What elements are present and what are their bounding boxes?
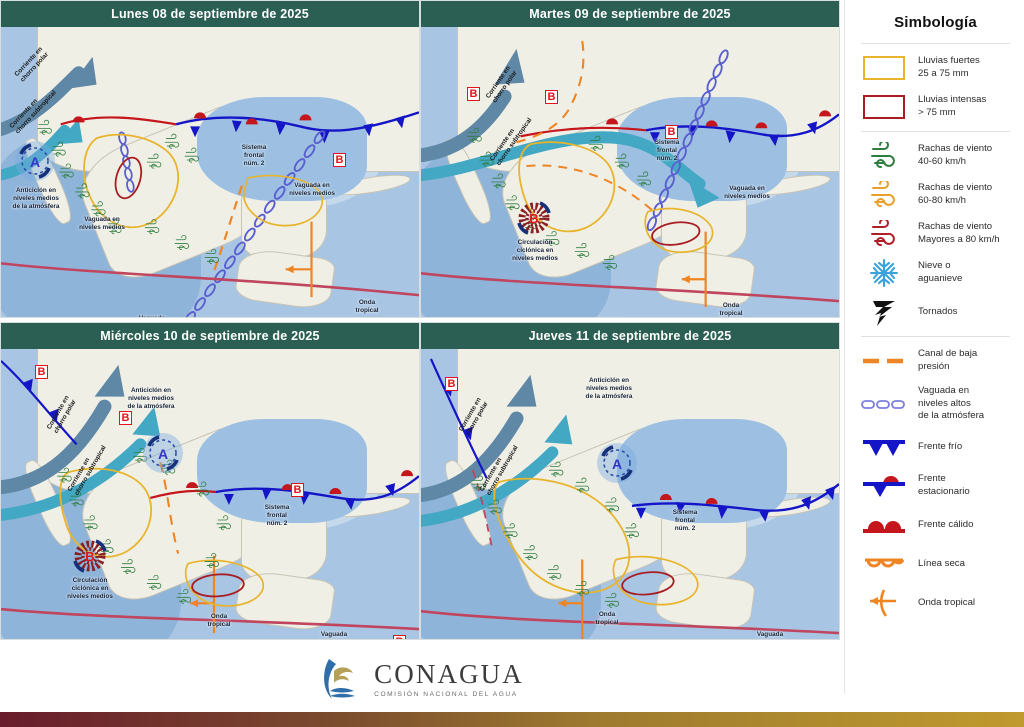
svg-text:A: A: [158, 446, 168, 462]
wind-gusts-lunes: [1, 27, 419, 317]
label-monsoon-trough-jueves: Vaguada monzónica: [743, 631, 797, 639]
label-tropical-wave-jueves: Onda tropical: [585, 611, 629, 627]
conagua-subtitle: COMISIÓN NACIONAL DEL AGUA: [374, 691, 524, 698]
wind-gusts-martes: [421, 27, 839, 317]
anticyclone-marker-miercoles: A: [143, 433, 183, 473]
legend-label: Rachas de viento Mayores a 80 km/h: [918, 221, 1000, 246]
low-pressure-marker-jueves-1: B: [445, 377, 458, 391]
wind-orange-icon: [859, 180, 909, 210]
label-anticyclone-miercoles: Anticiclón en niveles medios de la atmós…: [111, 387, 191, 410]
legend-item-cold-front[interactable]: Frente frío: [859, 432, 1014, 462]
panel-martes[interactable]: Martes 09 de septiembre de 2025: [420, 0, 840, 318]
conagua-eagle-icon: [320, 655, 366, 703]
low-pressure-marker-martes-2: B: [545, 90, 558, 104]
legend-divider-1: [861, 43, 1010, 44]
panel-lunes[interactable]: Lunes 08 de septiembre de 2025: [0, 0, 420, 318]
legend-label: Onda tropical: [918, 597, 975, 610]
svg-text:A: A: [612, 456, 622, 472]
cold-front-icon: [859, 432, 909, 462]
legend-item-tropical-wave[interactable]: Onda tropical: [859, 588, 1014, 618]
low-pressure-marker-miercoles-2: B: [119, 411, 132, 425]
footer: CONAGUA COMISIÓN NACIONAL DEL AGUA: [0, 645, 844, 712]
legend-label: Lluvias fuertes 25 a 75 mm: [918, 55, 980, 80]
cyclonic-circulation-miercoles: B: [71, 537, 109, 575]
warm-front-icon: [859, 510, 909, 540]
legend-item-rain-intense[interactable]: Lluvias intensas > 75 mm: [859, 92, 1014, 122]
stationary-front-icon: [859, 471, 909, 501]
legend-item-wind-green[interactable]: Rachas de viento 40-60 km/h: [859, 141, 1014, 171]
legend-item-low-pressure-channel[interactable]: Canal de baja presión: [859, 346, 1014, 376]
legend-label: Vaguada en niveles altos de la atmósfera: [918, 385, 984, 423]
legend-label: Frente estacionario: [918, 473, 970, 498]
label-cyclonic-circulation-miercoles: Circulación ciclónica en niveles medios: [61, 577, 119, 600]
panel-title-miercoles: Miércoles 10 de septiembre de 2025: [1, 323, 419, 349]
low-pressure-marker-martes-1: B: [467, 87, 480, 101]
label-trough-gulf-lunes: Vaguada en niveles medios: [279, 182, 345, 198]
panel-title-martes: Martes 09 de septiembre de 2025: [421, 1, 839, 27]
map-jueves[interactable]: A Corriente en chorro polar Corriente en…: [421, 349, 839, 639]
map-martes[interactable]: B Corriente en chorro polar Corriente en…: [421, 27, 839, 317]
legend-label: Frente cálido: [918, 519, 973, 532]
wind-green-icon: [859, 141, 909, 171]
conagua-wordmark: CONAGUA COMISIÓN NACIONAL DEL AGUA: [374, 659, 524, 698]
legend-item-snow[interactable]: Nieve o aguanieve: [859, 258, 1014, 288]
legend-item-rain-heavy[interactable]: Lluvias fuertes 25 a 75 mm: [859, 53, 1014, 83]
tornado-icon: [859, 297, 909, 327]
legend-label: Tornados: [918, 306, 957, 319]
legend-label: Frente frío: [918, 441, 962, 454]
label-tropical-wave-martes: Onda tropical: [709, 302, 753, 317]
wind-red-icon: [859, 219, 909, 249]
panel-miercoles[interactable]: Miércoles 10 de septiembre de 2025: [0, 322, 420, 640]
label-trough-pacific-lunes: Vaguada en niveles medios: [71, 216, 133, 232]
upper-trough-icon: [859, 389, 909, 419]
label-trough-gulf-martes: Vaguada en niveles medios: [717, 185, 777, 201]
legend-item-stationary-front[interactable]: Frente estacionario: [859, 471, 1014, 501]
legend-divider-3: [861, 336, 1010, 337]
svg-text:A: A: [30, 154, 40, 170]
legend-divider-2: [861, 131, 1010, 132]
legend-label: Rachas de viento 40-60 km/h: [918, 143, 992, 168]
anticyclone-marker-lunes: A: [15, 141, 55, 181]
legend-label: Línea seca: [918, 558, 965, 571]
tropical-wave-icon: [859, 588, 909, 618]
weather-forecast-page: Lunes 08 de septiembre de 2025: [0, 0, 1024, 727]
label-frontal-system-lunes: Sistema frontal núm. 2: [229, 144, 279, 167]
label-frontal-system-jueves: Sistema frontal núm. 2: [661, 509, 709, 532]
legend-item-wind-orange[interactable]: Rachas de viento 60-80 km/h: [859, 180, 1014, 210]
rain-heavy-box-icon: [859, 53, 909, 83]
panel-title-jueves: Jueves 11 de septiembre de 2025: [421, 323, 839, 349]
legend-label: Lluvias intensas > 75 mm: [918, 94, 986, 119]
svg-text:B: B: [529, 211, 538, 226]
snow-icon: [859, 258, 909, 288]
panel-jueves[interactable]: Jueves 11 de septiembre de 2025: [420, 322, 840, 640]
legend-item-upper-trough[interactable]: Vaguada en niveles altos de la atmósfera: [859, 385, 1014, 423]
conagua-name: CONAGUA: [374, 659, 524, 690]
conagua-logo: CONAGUA COMISIÓN NACIONAL DEL AGUA: [320, 655, 524, 703]
legend-item-tornado[interactable]: Tornados: [859, 297, 1014, 327]
bottom-color-bar: [0, 712, 1024, 727]
label-frontal-system-miercoles: Sistema frontal núm. 2: [253, 504, 301, 527]
anticyclone-marker-jueves: A: [597, 443, 637, 483]
low-pressure-marker-martes-3: B: [665, 125, 678, 139]
low-pressure-marker-miercoles-4: B: [393, 635, 406, 639]
low-pressure-marker-miercoles-1: B: [35, 365, 48, 379]
map-miercoles[interactable]: A B Corriente en chorro polar Corriente …: [1, 349, 419, 639]
legend-item-wind-red[interactable]: Rachas de viento Mayores a 80 km/h: [859, 219, 1014, 249]
svg-text:B: B: [85, 549, 94, 564]
label-tropical-wave-miercoles: Onda tropical: [197, 613, 241, 629]
rain-intense-box-icon: [859, 92, 909, 122]
low-pressure-marker-miercoles-3: B: [291, 483, 304, 497]
legend-panel: Simbología Lluvias fuertes 25 a 75 mm Ll…: [844, 0, 1024, 693]
label-frontal-system-martes: Sistema frontal núm. 2: [643, 139, 691, 162]
dry-line-icon: [859, 549, 909, 579]
legend-label: Nieve o aguanieve: [918, 260, 962, 285]
label-anticyclone-jueves: Anticiclón en niveles medios de la atmós…: [569, 377, 649, 400]
low-pressure-channel-icon: [859, 346, 909, 376]
label-tropical-wave-lunes: Onda tropical: [345, 299, 389, 315]
label-monsoon-trough-lunes: Vaguada monzónica: [125, 315, 179, 317]
panel-title-lunes: Lunes 08 de septiembre de 2025: [1, 1, 419, 27]
label-anticyclone-lunes: Anticiclón en niveles medios de la atmós…: [1, 187, 71, 210]
legend-item-dry-line[interactable]: Línea seca: [859, 549, 1014, 579]
low-pressure-marker-lunes-1: B: [333, 153, 346, 167]
map-lunes[interactable]: A Corriente en chorro polar Corriente en…: [1, 27, 419, 317]
legend-label: Canal de baja presión: [918, 348, 977, 373]
label-monsoon-trough-miercoles: Vaguada monzónica: [307, 631, 361, 639]
label-cyclonic-circulation-martes: Circulación ciclónica en niveles medios: [505, 239, 565, 262]
legend-item-warm-front[interactable]: Frente cálido: [859, 510, 1014, 540]
forecast-panels-grid: Lunes 08 de septiembre de 2025: [0, 0, 840, 645]
legend-label: Rachas de viento 60-80 km/h: [918, 182, 992, 207]
cyclonic-circulation-martes: B: [515, 199, 553, 237]
legend-title: Simbología: [857, 14, 1014, 31]
